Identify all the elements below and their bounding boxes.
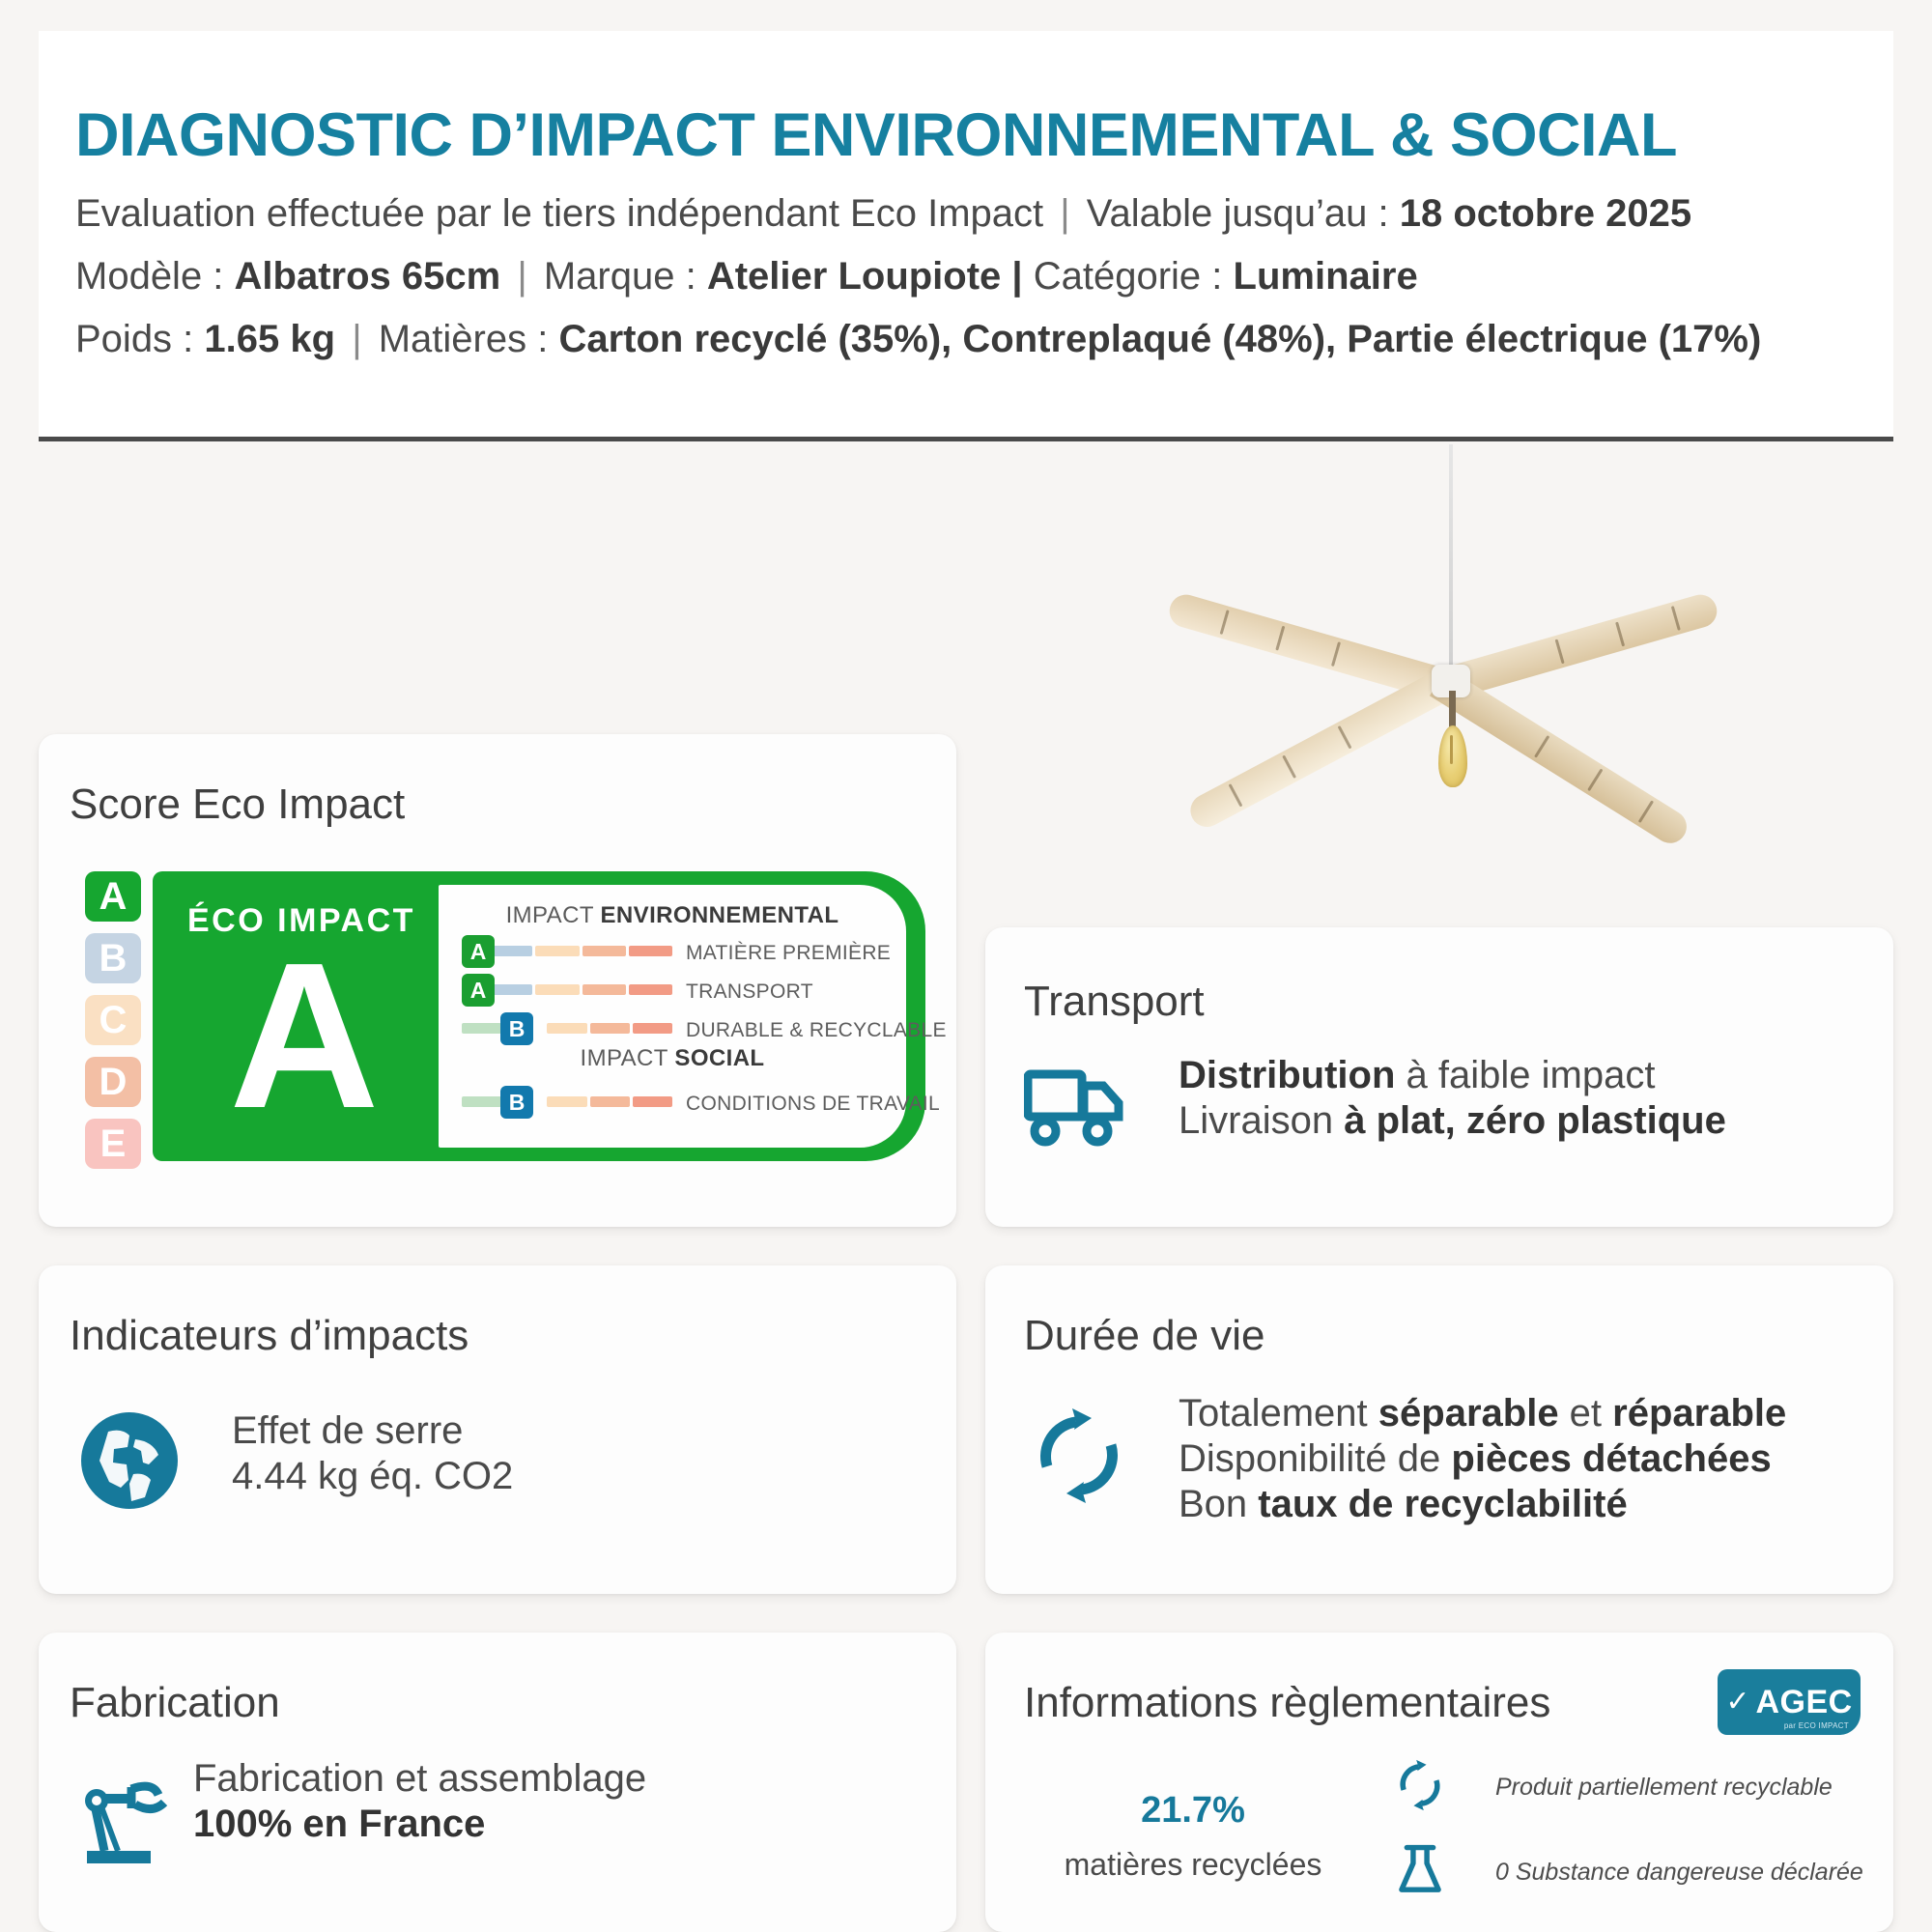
impact-row-label: CONDITIONS DE TRAVAIL	[686, 1093, 940, 1116]
lamp-cord	[1449, 444, 1453, 676]
recycled-unit: %	[1212, 1790, 1245, 1831]
section-label-plain: IMPACT	[581, 1045, 675, 1071]
lifetime-text-block: Totalement séparable et réparable Dispon…	[1179, 1391, 1786, 1528]
lifetime-card-title: Durée de vie	[1024, 1312, 1264, 1360]
manufacturing-text-bold: 100% en France	[193, 1803, 485, 1845]
grade-chip-a: A	[85, 871, 141, 922]
model-value: Albatros 65cm	[235, 255, 501, 298]
brand-value: Atelier Loupiote |	[707, 255, 1023, 298]
lifetime-line-3-plain: Bon	[1179, 1483, 1258, 1525]
bar-segment	[489, 946, 532, 956]
page-title: DIAGNOSTIC D’IMPACT ENVIRONNEMENTAL & SO…	[75, 100, 1893, 170]
weight-label: Poids :	[75, 318, 193, 360]
eco-impact-label: A B C D E ÉCO IMPACT A IMPACT ENVIRONNEM…	[77, 871, 927, 1171]
bar-segment	[535, 984, 579, 995]
grade-chip-e: E	[85, 1119, 141, 1169]
score-card: Score Eco Impact A B C D E ÉCO IMPACT A …	[39, 734, 956, 1227]
document-header: DIAGNOSTIC D’IMPACT ENVIRONNEMENTAL & SO…	[39, 31, 1893, 441]
grade-scale: A B C D E	[77, 871, 147, 1171]
bar-segment	[590, 1023, 630, 1034]
impact-bar	[462, 1023, 672, 1034]
impact-bar	[489, 946, 672, 956]
bar-segment	[633, 1096, 672, 1107]
bar-segment	[547, 1096, 586, 1107]
recycle-icon	[1391, 1756, 1449, 1819]
bar-segment	[629, 946, 672, 956]
impact-bar	[462, 1096, 672, 1107]
section-label-plain: IMPACT	[506, 902, 601, 928]
lifetime-line-3: Bon taux de recyclabilité	[1179, 1482, 1786, 1527]
transport-line-2: Livraison à plat, zéro plastique	[1179, 1098, 1726, 1144]
impact-row-durable-recyclable: B DURABLE & RECYCLABLE	[462, 1012, 906, 1045]
section-header-social: IMPACT SOCIAL	[439, 1045, 906, 1072]
transport-line-2-plain: Livraison	[1179, 1099, 1344, 1142]
regulatory-card-title: Informations règlementaires	[1024, 1679, 1550, 1727]
recycle-icon	[1026, 1403, 1132, 1514]
bulb-socket	[1449, 691, 1456, 729]
globe-icon	[79, 1410, 180, 1516]
indicator-metric-value: 4.44 kg éq. CO2	[232, 1454, 513, 1499]
transport-line-1-bold: Distribution	[1179, 1054, 1395, 1096]
regulatory-note-substances: 0 Substance dangereuse déclarée	[1391, 1841, 1863, 1904]
product-image	[1092, 444, 1710, 898]
bar-segment	[582, 946, 626, 956]
impact-row-transport: A TRANSPORT	[462, 974, 906, 1007]
impact-row-label: TRANSPORT	[686, 980, 813, 1004]
model-label: Modèle :	[75, 255, 223, 298]
header-validity-line: Evaluation effectuée par le tiers indépe…	[75, 191, 1893, 237]
recycled-materials-stat: 21.7% matières recyclées	[1053, 1758, 1333, 1883]
category-label: Catégorie :	[1034, 255, 1223, 298]
transport-line-2-bold: à plat, zéro plastique	[1344, 1099, 1726, 1142]
lifetime-line-1-plain: Totalement	[1179, 1392, 1378, 1435]
truck-icon	[1024, 1063, 1130, 1152]
transport-text-block: Distribution à faible impact Livraison à…	[1179, 1053, 1726, 1144]
evaluator-text: Evaluation effectuée par le tiers indépe…	[75, 192, 1043, 235]
weight-value: 1.65 kg	[204, 318, 335, 360]
section-label-bold: SOCIAL	[674, 1045, 764, 1071]
impact-row-label: MATIÈRE PREMIÈRE	[686, 942, 891, 965]
manufacturing-card-title: Fabrication	[70, 1679, 280, 1727]
transport-line-1: Distribution à faible impact	[1179, 1053, 1726, 1098]
transport-line-1-rest: à faible impact	[1395, 1054, 1655, 1096]
brand-label: Marque :	[544, 255, 696, 298]
materials-label: Matières :	[379, 318, 549, 360]
bar-segment	[590, 1096, 630, 1107]
bar-segment	[489, 984, 532, 995]
materials-value: Carton recyclé (35%), Contreplaqué (48%)…	[558, 318, 1761, 360]
recycled-value: 21.7	[1141, 1790, 1212, 1831]
indicators-card: Indicateurs d’impacts Effet de serre 4.4…	[39, 1265, 956, 1594]
divider: |	[511, 255, 532, 298]
regulatory-note-text: 0 Substance dangereuse déclarée	[1495, 1859, 1863, 1887]
validity-value: 18 octobre 2025	[1400, 192, 1691, 235]
impact-row-conditions-de-travail: B CONDITIONS DE TRAVAIL	[462, 1086, 906, 1119]
bulb-filament	[1450, 735, 1453, 764]
bar-segment	[535, 946, 579, 956]
divider: |	[346, 318, 367, 360]
agec-label: AGEC	[1755, 1684, 1852, 1721]
lifetime-line-2: Disponibilité de pièces détachées	[1179, 1436, 1786, 1482]
category-value: Luminaire	[1234, 255, 1418, 298]
indicator-metric-name: Effet de serre	[232, 1408, 513, 1454]
bar-segment	[582, 984, 626, 995]
bulb-glass	[1438, 725, 1467, 787]
grade-chip-d: D	[85, 1057, 141, 1107]
section-label-bold: ENVIRONNEMENTAL	[601, 902, 839, 928]
section-header-environmental: IMPACT ENVIRONNEMENTAL	[439, 902, 906, 929]
lifetime-line-2-plain: Disponibilité de	[1179, 1437, 1451, 1480]
bar-segment	[633, 1023, 672, 1034]
indicators-card-title: Indicateurs d’impacts	[70, 1312, 469, 1360]
impact-grade-badge: B	[500, 1012, 533, 1045]
robot-arm-icon	[79, 1766, 180, 1871]
transport-card-title: Transport	[1024, 978, 1205, 1026]
bar-segment	[462, 1023, 501, 1034]
lamp-wing	[1184, 668, 1456, 833]
lifetime-card: Durée de vie Totalement séparable et rép…	[985, 1265, 1893, 1594]
impact-grade-badge: A	[462, 935, 495, 968]
lifetime-line-1-mid: et	[1559, 1392, 1613, 1435]
eco-label-grade: A	[203, 931, 406, 1139]
lifetime-line-1-bold-b: réparable	[1612, 1392, 1786, 1435]
regulatory-note-text: Produit partiellement recyclable	[1495, 1774, 1833, 1802]
eco-label-detail-panel: IMPACT ENVIRONNEMENTAL A MATIÈRE PREMIÈR…	[439, 885, 906, 1148]
lamp-blade	[1430, 668, 1692, 849]
indicators-text-block: Effet de serre 4.44 kg éq. CO2	[232, 1408, 513, 1499]
bar-segment	[629, 984, 672, 995]
divider: |	[1054, 192, 1075, 235]
agec-badge: ✓ AGEC par ECO IMPACT	[1718, 1669, 1861, 1735]
lifetime-line-1-bold-a: séparable	[1378, 1392, 1559, 1435]
grade-chip-c: C	[85, 995, 141, 1045]
regulatory-note-recyclable: Produit partiellement recyclable	[1391, 1756, 1833, 1819]
lamp-wing	[1430, 668, 1692, 849]
flask-icon	[1391, 1841, 1449, 1904]
light-bulb	[1437, 691, 1466, 720]
eco-label-panel: ÉCO IMPACT A IMPACT ENVIRONNEMENTAL A MA…	[153, 871, 925, 1161]
transport-card: Transport Distribution à faible impact L…	[985, 927, 1893, 1227]
manufacturing-text-block: Fabrication et assemblage 100% en France	[193, 1756, 753, 1847]
validity-label: Valable jusqu’au :	[1087, 192, 1389, 235]
regulatory-card: Informations règlementaires ✓ AGEC par E…	[985, 1633, 1893, 1932]
impact-bar	[489, 984, 672, 995]
check-icon: ✓	[1725, 1688, 1749, 1717]
lamp-blade	[1184, 668, 1456, 833]
bar-segment	[462, 1096, 501, 1107]
score-card-title: Score Eco Impact	[70, 781, 405, 829]
agec-subtext: par ECO IMPACT	[1784, 1721, 1849, 1730]
lifetime-line-2-bold: pièces détachées	[1451, 1437, 1771, 1480]
manufacturing-card: Fabrication Fabrication et assemblage 10…	[39, 1633, 956, 1932]
lifetime-line-1: Totalement séparable et réparable	[1179, 1391, 1786, 1436]
manufacturing-text-plain: Fabrication et assemblage	[193, 1757, 646, 1800]
recycled-caption: matières recyclées	[1053, 1847, 1333, 1883]
impact-row-matiere-premiere: A MATIÈRE PREMIÈRE	[462, 935, 906, 968]
header-model-line: Modèle : Albatros 65cm | Marque : Atelie…	[75, 254, 1893, 299]
bar-segment	[547, 1023, 586, 1034]
header-materials-line: Poids : 1.65 kg | Matières : Carton recy…	[75, 317, 1893, 362]
impact-grade-badge: A	[462, 974, 495, 1007]
impact-row-label: DURABLE & RECYCLABLE	[686, 1019, 947, 1042]
lifetime-line-3-bold: taux de recyclabilité	[1258, 1483, 1627, 1525]
impact-grade-badge: B	[500, 1086, 533, 1119]
recycled-percentage: 21.7%	[1053, 1758, 1333, 1833]
grade-chip-b: B	[85, 933, 141, 983]
